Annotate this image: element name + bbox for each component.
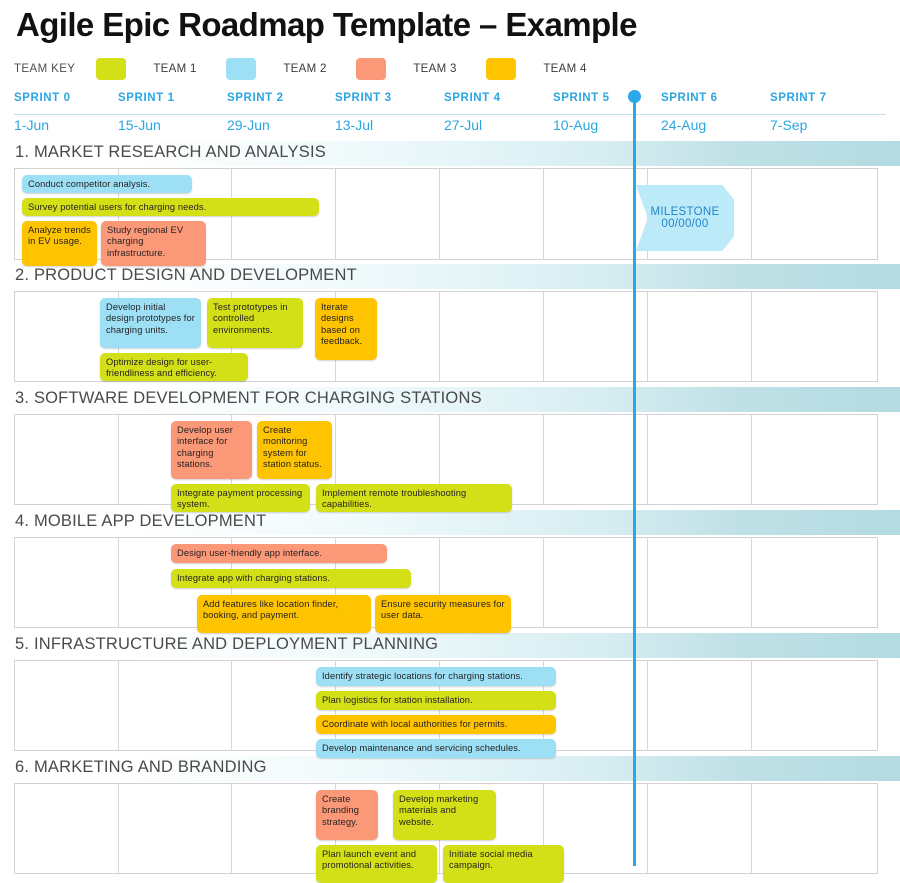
task-bar[interactable]: Study regional EV charging infrastructur…: [101, 221, 206, 266]
sprint-6-date: 24-Aug: [661, 117, 706, 133]
team-2-label: TEAM 2: [283, 63, 326, 75]
task-bar[interactable]: Initiate social media campaign.: [443, 845, 564, 883]
sprint-2-name: SPRINT 2: [213, 92, 317, 104]
sprint-2-date: 29-Jun: [227, 117, 270, 133]
team-1-label: TEAM 1: [153, 63, 196, 75]
milestone-date: 00/00/00: [661, 218, 708, 230]
sprint-column-1[interactable]: SPRINT 1 15-Jun: [104, 92, 208, 104]
sprint-column-3[interactable]: SPRINT 3 13-Jul: [321, 92, 425, 104]
section-5-band: 5. INFRASTRUCTURE AND DEPLOYMENT PLANNIN…: [0, 633, 900, 658]
sprint-7-name: SPRINT 7: [756, 92, 860, 104]
task-bar[interactable]: Optimize design for user-friendliness an…: [100, 353, 248, 381]
task-bar[interactable]: Design user-friendly app interface.: [171, 544, 387, 563]
task-bar[interactable]: Iterate designs based on feedback.: [315, 298, 377, 360]
milestone-marker-dot-icon: [628, 90, 641, 103]
team-3-label: TEAM 3: [413, 63, 456, 75]
task-bar[interactable]: Develop marketing materials and website.: [393, 790, 496, 840]
section-2-title: 2. PRODUCT DESIGN AND DEVELOPMENT: [15, 266, 357, 285]
sprint-3-date: 13-Jul: [335, 117, 373, 133]
task-bar[interactable]: Create monitoring system for station sta…: [257, 421, 332, 479]
section-3-band: 3. SOFTWARE DEVELOPMENT FOR CHARGING STA…: [0, 387, 900, 412]
sprint-3-name: SPRINT 3: [321, 92, 425, 104]
section-1-title: 1. MARKET RESEARCH AND ANALYSIS: [15, 143, 326, 162]
sprint-0-name: SPRINT 0: [0, 92, 104, 104]
section-4-band: 4. MOBILE APP DEVELOPMENT: [0, 510, 900, 535]
sprint-5-date: 10-Aug: [553, 117, 598, 133]
task-bar[interactable]: Integrate payment processing system.: [171, 484, 310, 512]
task-bar[interactable]: Analyze trends in EV usage.: [22, 221, 97, 266]
team-key-legend: TEAM KEY TEAM 1 TEAM 2 TEAM 3 TEAM 4: [14, 57, 616, 81]
team-1-swatch-icon: [96, 58, 126, 80]
section-6-title: 6. MARKETING AND BRANDING: [15, 758, 267, 777]
section-4-title: 4. MOBILE APP DEVELOPMENT: [15, 512, 266, 531]
task-bar[interactable]: Test prototypes in controlled environmen…: [207, 298, 303, 348]
milestone-title: MILESTONE: [651, 206, 720, 218]
milestone-marker-line: [633, 92, 636, 866]
task-bar[interactable]: Plan logistics for station installation.: [316, 691, 556, 710]
task-bar[interactable]: Add features like location finder, booki…: [197, 595, 371, 633]
task-bar[interactable]: Ensure security measures for user data.: [375, 595, 511, 633]
sprint-4-date: 27-Jul: [444, 117, 482, 133]
sprint-4-name: SPRINT 4: [430, 92, 534, 104]
section-1-grid: Conduct competitor analysis. Survey pote…: [14, 168, 878, 260]
page-title: Agile Epic Roadmap Template – Example: [16, 6, 637, 44]
sprint-column-0[interactable]: SPRINT 0 1-Jun: [0, 92, 104, 104]
section-1-band: 1. MARKET RESEARCH AND ANALYSIS: [0, 141, 900, 166]
team-key-entry-2: TEAM 2: [226, 58, 356, 80]
task-bar[interactable]: Identify strategic locations for chargin…: [316, 667, 556, 686]
task-bar[interactable]: Develop maintenance and servicing schedu…: [316, 739, 556, 758]
team-key-entry-3: TEAM 3: [356, 58, 486, 80]
section-5-grid: Identify strategic locations for chargin…: [14, 660, 878, 751]
sprint-1-name: SPRINT 1: [104, 92, 208, 104]
section-4-grid: Design user-friendly app interface. Inte…: [14, 537, 878, 628]
task-bar[interactable]: Create branding strategy.: [316, 790, 378, 840]
sprint-0-date: 1-Jun: [14, 117, 49, 133]
sprint-column-6[interactable]: SPRINT 6 24-Aug: [647, 92, 751, 104]
team-4-swatch-icon: [486, 58, 516, 80]
team-4-label: TEAM 4: [543, 63, 586, 75]
task-bar[interactable]: Implement remote troubleshooting capabil…: [316, 484, 512, 512]
sprint-1-date: 15-Jun: [118, 117, 161, 133]
team-key-entry-1: TEAM 1: [96, 58, 226, 80]
team-3-swatch-icon: [356, 58, 386, 80]
task-bar[interactable]: Coordinate with local authorities for pe…: [316, 715, 556, 734]
section-5-title: 5. INFRASTRUCTURE AND DEPLOYMENT PLANNIN…: [15, 635, 438, 654]
sprint-column-4[interactable]: SPRINT 4 27-Jul: [430, 92, 534, 104]
team-key-label: TEAM KEY: [14, 63, 75, 75]
task-bar[interactable]: Develop user interface for charging stat…: [171, 421, 252, 479]
section-6-band: 6. MARKETING AND BRANDING: [0, 756, 900, 781]
sprint-column-7[interactable]: SPRINT 7 7-Sep: [756, 92, 860, 104]
team-2-swatch-icon: [226, 58, 256, 80]
milestone-callout[interactable]: MILESTONE 00/00/00: [636, 185, 734, 251]
task-bar[interactable]: Survey potential users for charging need…: [22, 198, 319, 216]
section-3-grid: Develop user interface for charging stat…: [14, 414, 878, 505]
sprint-timeline-header: SPRINT 0 1-Jun SPRINT 1 15-Jun SPRINT 2 …: [0, 92, 900, 140]
sprint-6-name: SPRINT 6: [647, 92, 751, 104]
sprint-header-divider: [14, 114, 886, 115]
section-3-title: 3. SOFTWARE DEVELOPMENT FOR CHARGING STA…: [15, 389, 482, 408]
task-bar[interactable]: Integrate app with charging stations.: [171, 569, 411, 588]
section-2-grid: Develop initial design prototypes for ch…: [14, 291, 878, 382]
section-6-grid: Create branding strategy. Develop market…: [14, 783, 878, 874]
task-bar[interactable]: Conduct competitor analysis.: [22, 175, 192, 193]
sprint-7-date: 7-Sep: [770, 117, 807, 133]
section-2-band: 2. PRODUCT DESIGN AND DEVELOPMENT: [0, 264, 900, 289]
sprint-column-2[interactable]: SPRINT 2 29-Jun: [213, 92, 317, 104]
team-key-entry-4: TEAM 4: [486, 58, 616, 80]
task-bar[interactable]: Plan launch event and promotional activi…: [316, 845, 437, 883]
task-bar[interactable]: Develop initial design prototypes for ch…: [100, 298, 201, 348]
